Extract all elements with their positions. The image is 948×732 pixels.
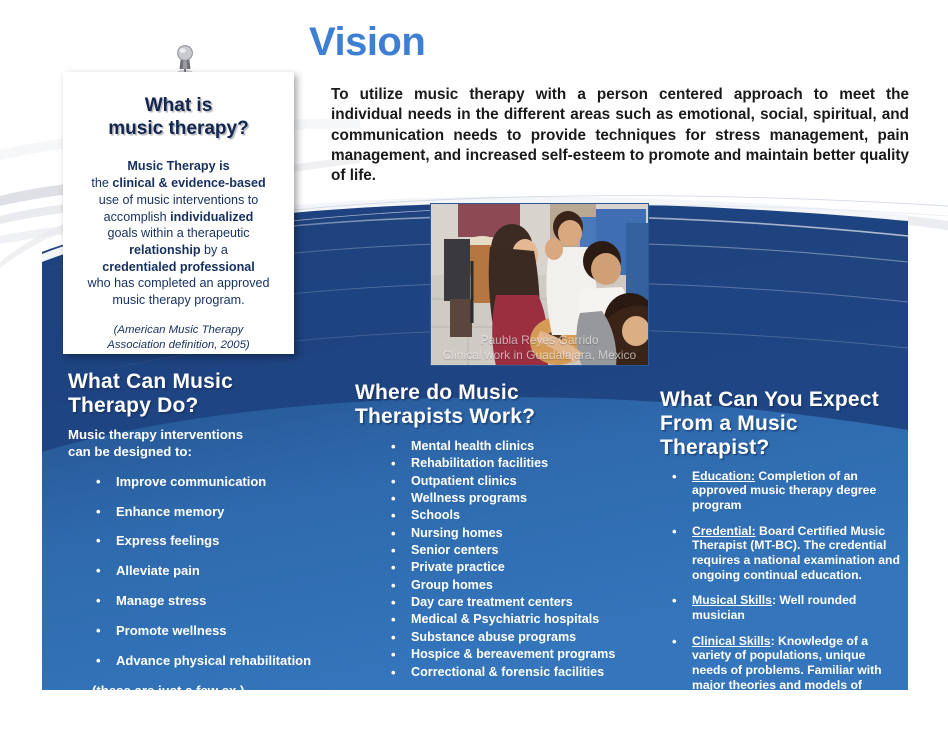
photo-caption-line1: Paubla Reyes Garrido: [480, 333, 598, 347]
list-item-text: Alleviate pain: [116, 563, 200, 578]
column-what-can-music-therapy-do: What Can Music Therapy Do? Music therapy…: [68, 370, 333, 698]
list-item: •Schools: [355, 508, 630, 524]
list-item-text: Express feelings: [116, 533, 219, 548]
card-source-line1: (American Music Therapy: [114, 324, 244, 336]
list-item: •Rehabilitation facilities: [355, 456, 630, 472]
list-item: •Group homes: [355, 578, 630, 594]
therapy-photo: Paubla Reyes Garrido Clinical work in Gu…: [430, 203, 649, 366]
list-item-text: Advance physical rehabilitation: [116, 653, 311, 668]
list-item: •Day care treatment centers: [355, 595, 630, 611]
bullet-glyph: •: [391, 612, 396, 628]
bullet-glyph: •: [391, 665, 396, 681]
list-item-label: Education:: [692, 469, 755, 483]
list-item: •Medical & Psychiatric hospitals: [355, 612, 630, 628]
bullet-glyph: •: [391, 474, 396, 490]
card-definition: Music Therapy isthe clinical & evidence-…: [77, 158, 280, 309]
list-item: •Substance abuse programs: [355, 630, 630, 646]
list-item-text: Private practice: [411, 560, 505, 574]
list-item-text: Improve communication: [116, 474, 266, 489]
card-heading-line2: music therapy?: [108, 118, 248, 139]
bullet-glyph: •: [96, 653, 101, 669]
bullet-glyph: •: [96, 563, 101, 579]
card-heading: What is music therapy?: [77, 94, 280, 140]
bullet-glyph: •: [391, 491, 396, 507]
list-item-text: Correctional & forensic facilities: [411, 665, 604, 679]
list-item: •Manage stress: [68, 593, 333, 609]
list-item-text: Wellness programs: [411, 491, 527, 505]
list-item: •Express feelings: [68, 533, 333, 549]
list-item: •Alleviate pain: [68, 563, 333, 579]
column1-lead-line1: Music therapy interventions: [68, 427, 243, 442]
definition-card: What is music therapy? Music Therapy ist…: [63, 72, 294, 354]
list-item: •Outpatient clinics: [355, 474, 630, 490]
bullet-glyph: •: [391, 595, 396, 611]
bullet-glyph: •: [96, 623, 101, 639]
column1-heading: What Can Music Therapy Do?: [68, 370, 333, 418]
list-item-label: Musical Skills: [692, 593, 772, 607]
column1-lead-line2: can be designed to:: [68, 444, 192, 459]
list-item: •Education: Completion of an approved mu…: [660, 469, 900, 513]
photo-caption-line2: Clinical work in Guadalajara, Mexico: [443, 348, 636, 362]
list-item: •Nursing homes: [355, 526, 630, 542]
slide-canvas: Vision To utilize music therapy with a p…: [0, 0, 948, 732]
list-item-text: Substance abuse programs: [411, 630, 576, 644]
bullet-glyph: •: [391, 543, 396, 559]
list-item: •Hospice & bereavement programs: [355, 647, 630, 663]
card-source: (American Music Therapy Association defi…: [77, 323, 280, 353]
swoosh-right-arc: [908, 216, 948, 230]
photo-caption: Paubla Reyes Garrido Clinical work in Gu…: [430, 333, 649, 363]
column2-heading: Where do Music Therapists Work?: [355, 381, 630, 429]
list-item-text: Outpatient clinics: [411, 474, 517, 488]
column1-heading-line2: Therapy Do?: [68, 394, 199, 417]
bullet-glyph: •: [96, 474, 101, 490]
column2-heading-line2: Therapists Work?: [355, 405, 535, 428]
list-item-text: Day care treatment centers: [411, 595, 573, 609]
list-item: •Senior centers: [355, 543, 630, 559]
list-item: •Private practice: [355, 560, 630, 576]
bullet-glyph: •: [672, 469, 677, 485]
bullet-glyph: •: [391, 456, 396, 472]
column-where-do-music-therapists-work: Where do Music Therapists Work? •Mental …: [355, 381, 630, 682]
list-item-text: Enhance memory: [116, 504, 224, 519]
list-item: •Improve communication: [68, 474, 333, 490]
list-item: •Wellness programs: [355, 491, 630, 507]
bullet-glyph: •: [672, 593, 677, 609]
column3-heading: What Can You Expect From a Music Therapi…: [660, 388, 900, 460]
bullet-glyph: •: [391, 578, 396, 594]
bullet-glyph: •: [391, 560, 396, 576]
list-item: •Clinical Skills: Knowledge of a variety…: [660, 634, 900, 707]
column1-footnote: (these are just a few ex.): [92, 683, 333, 698]
list-item-text: Group homes: [411, 578, 493, 592]
list-item-text: Mental health clinics: [411, 439, 534, 453]
list-item: •Mental health clinics: [355, 439, 630, 455]
vision-statement: To utilize music therapy with a person c…: [331, 85, 909, 187]
list-item: •Credential: Board Certified Music Thera…: [660, 524, 900, 583]
list-item-text: Hospice & bereavement programs: [411, 647, 615, 661]
column3-heading-line1: What Can You Expect: [660, 388, 879, 411]
bullet-glyph: •: [391, 647, 396, 663]
bullet-glyph: •: [391, 508, 396, 524]
list-item: •Enhance memory: [68, 504, 333, 520]
list-item: •Advance physical rehabilitation: [68, 653, 333, 669]
list-item-text: Schools: [411, 508, 460, 522]
list-item-label: Credential:: [692, 524, 756, 538]
list-item-text: Senior centers: [411, 543, 499, 557]
list-item-text: Nursing homes: [411, 526, 503, 540]
column2-heading-line1: Where do Music: [355, 381, 519, 404]
bullet-glyph: •: [391, 526, 396, 542]
bullet-glyph: •: [391, 630, 396, 646]
card-source-line2: Association definition, 2005): [107, 339, 249, 351]
list-item-label: Clinical Skills: [692, 634, 771, 648]
list-item-text: Promote wellness: [116, 623, 227, 638]
bullet-glyph: •: [96, 593, 101, 609]
bullet-glyph: •: [96, 504, 101, 520]
list-item: •Musical Skills: Well rounded musician: [660, 593, 900, 622]
list-item: •Correctional & forensic facilities: [355, 665, 630, 681]
column1-lead: Music therapy interventions can be desig…: [68, 427, 333, 461]
bullet-glyph: •: [672, 634, 677, 650]
page-title: Vision: [309, 22, 425, 62]
column3-bullet-list: •Education: Completion of an approved mu…: [660, 469, 900, 707]
column1-bullet-list: •Improve communication•Enhance memory•Ex…: [68, 474, 333, 669]
bullet-glyph: •: [672, 524, 677, 540]
list-item-text: Medical & Psychiatric hospitals: [411, 612, 599, 626]
bullet-glyph: •: [96, 533, 101, 549]
column1-heading-line1: What Can Music: [68, 370, 233, 393]
list-item: •Promote wellness: [68, 623, 333, 639]
column2-bullet-list: •Mental health clinics•Rehabilitation fa…: [355, 439, 630, 681]
bullet-glyph: •: [391, 439, 396, 455]
list-item-text: Rehabilitation facilities: [411, 456, 548, 470]
list-item-text: Manage stress: [116, 593, 206, 608]
column-what-can-you-expect: What Can You Expect From a Music Therapi…: [660, 388, 900, 718]
card-heading-line1: What is: [145, 95, 213, 116]
column3-heading-line2: From a Music Therapist?: [660, 412, 798, 459]
